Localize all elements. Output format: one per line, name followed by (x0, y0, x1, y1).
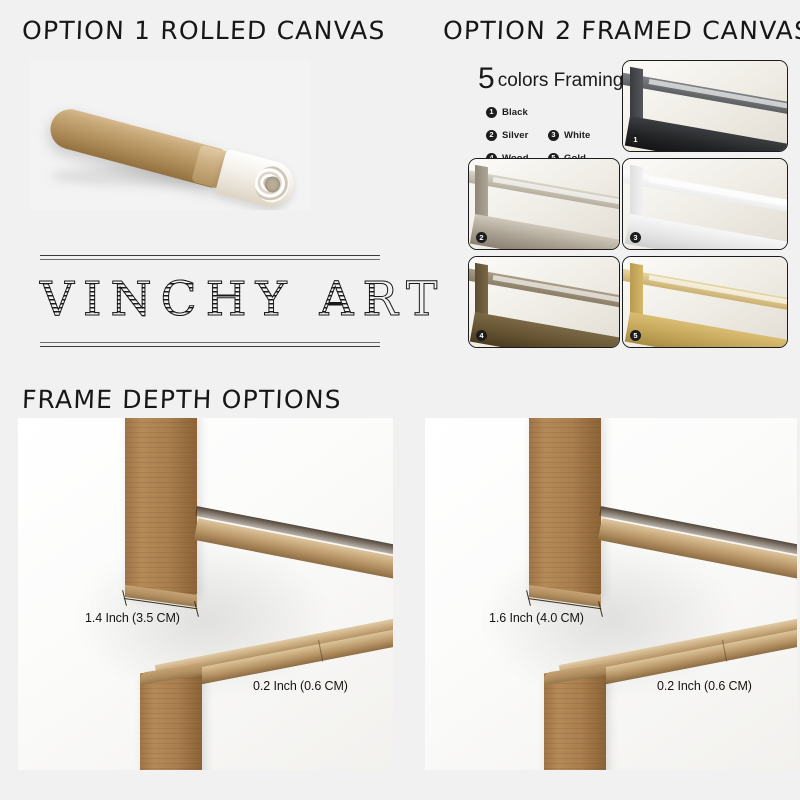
legend-badge-3: 3 (548, 130, 559, 141)
thickness-dimension-label-right: 0.2 Inch (0.6 CM) (657, 679, 752, 693)
legend-label-white: White (564, 130, 590, 141)
frame-swatch-white[interactable]: 3 (622, 158, 788, 250)
framing-count: 5 (478, 62, 495, 95)
frame-swatch-black[interactable]: 1 (622, 60, 788, 152)
legend-label-silver: Silver (502, 130, 528, 141)
legend-item-black: 1 Black (486, 107, 548, 118)
frame-swatch-wood[interactable]: 4 (468, 256, 620, 348)
legend-label-black: Black (502, 107, 528, 118)
rolled-canvas-roll (215, 148, 298, 210)
framing-heading: 5colors Framing (478, 62, 623, 96)
deep-frame-vertical (529, 418, 601, 595)
brand-name: VINCHY ART (40, 271, 380, 329)
swatch-badge-1: 1 (630, 134, 641, 145)
shipping-tube (37, 89, 292, 210)
frame-depth-heading: FRAME DEPTH OPTIONS (21, 385, 342, 414)
frame-depth-photo-right: 1.6 Inch (4.0 CM) 0.2 Inch (0.6 CM) (425, 418, 797, 770)
legend-item-silver: 2 Silver (486, 130, 548, 141)
depth-dimension-label-right: 1.6 Inch (4.0 CM) (489, 611, 584, 625)
swatch-badge-3: 3 (630, 232, 641, 243)
rolled-canvas-photo (30, 60, 310, 210)
logo-rule-top (40, 255, 380, 260)
thickness-dimension-label-left: 0.2 Inch (0.6 CM) (253, 679, 348, 693)
swatch-badge-2: 2 (476, 232, 487, 243)
frame-swatch-silver[interactable]: 2 (468, 158, 620, 250)
brand-logo: VINCHY ART (40, 245, 380, 355)
frame-swatch-gold[interactable]: 5 (622, 256, 788, 348)
thin-frame-vertical (544, 673, 606, 770)
swatch-badge-5: 5 (630, 330, 641, 341)
framing-heading-text: colors Framing (498, 70, 624, 91)
swatch-badge-4: 4 (476, 330, 487, 341)
deep-frame-vertical (125, 418, 197, 595)
legend-badge-2: 2 (486, 130, 497, 141)
product-infographic: OPTION 1 ROLLED CANVAS VINCHY ART OPTION… (0, 0, 800, 800)
legend-item-white: 3 White (548, 130, 610, 141)
frame-depth-photo-left: 1.4 Inch (3.5 CM) 0.2 Inch (0.6 CM) (18, 418, 393, 770)
logo-rule-bottom (40, 342, 380, 347)
thin-frame-vertical (140, 673, 202, 770)
depth-dimension-label-left: 1.4 Inch (3.5 CM) (85, 611, 180, 625)
legend-row: 2 Silver 3 White (486, 127, 626, 143)
legend-row: 1 Black (486, 104, 626, 120)
legend-badge-1: 1 (486, 107, 497, 118)
option2-heading: OPTION 2 FRAMED CANVAS (442, 16, 800, 45)
framing-colors-panel: 5colors Framing 1 Black 2 Silver 3 White (470, 58, 790, 358)
option1-heading: OPTION 1 ROLLED CANVAS (21, 16, 386, 45)
